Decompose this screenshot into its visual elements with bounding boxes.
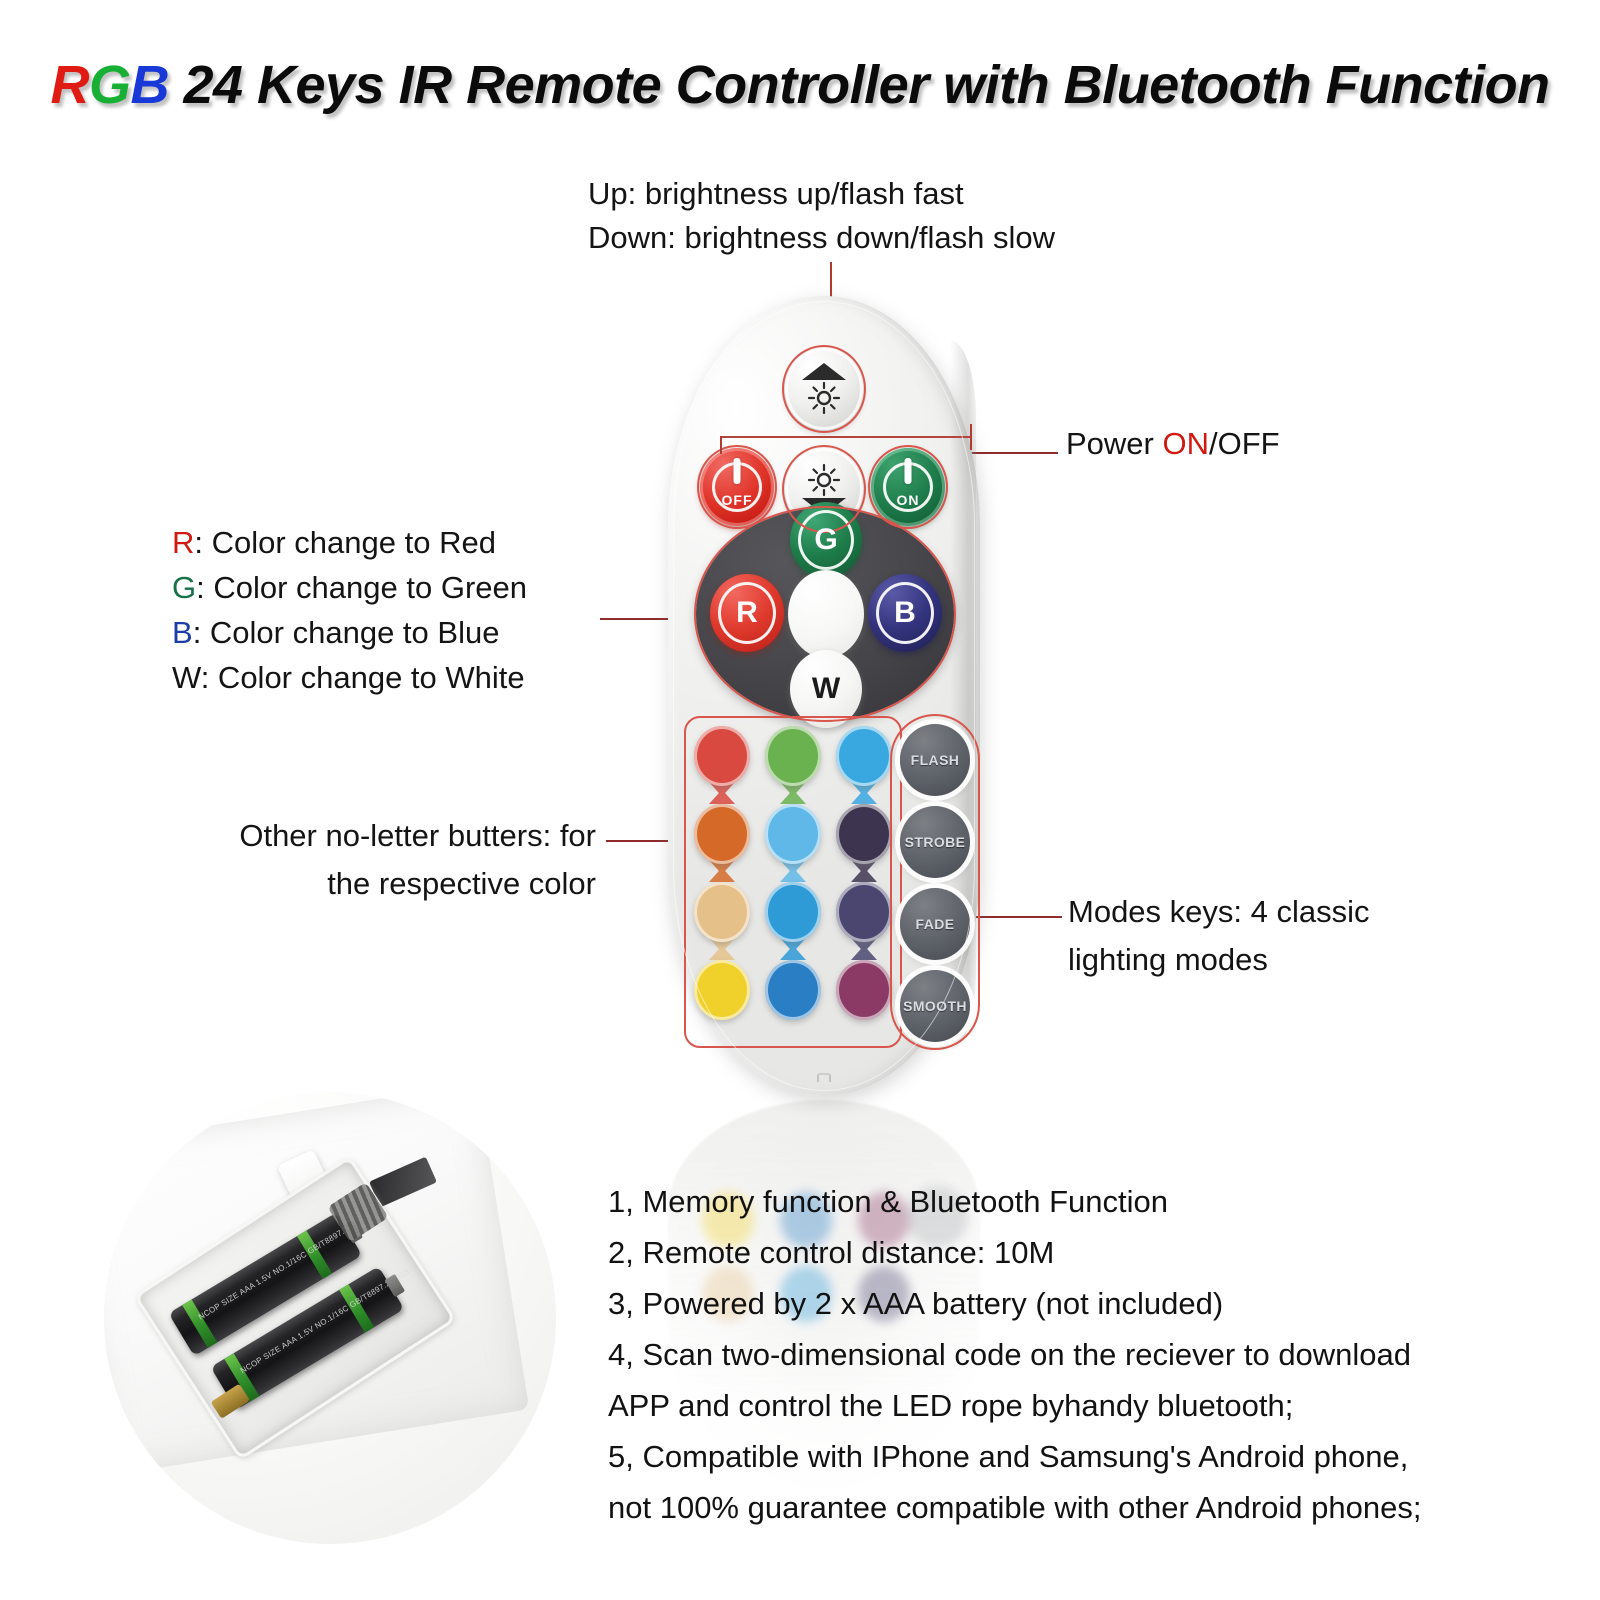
color-button-r1c2[interactable] <box>765 726 821 786</box>
color-key-letter-r: R <box>172 525 194 560</box>
color-button-r2c2[interactable] <box>765 804 821 864</box>
remote-control-body: OFF ON G R B W <box>668 296 980 1096</box>
title-letter-b: B <box>130 55 169 115</box>
mode-button-smooth[interactable]: SMOOTH <box>900 970 970 1042</box>
power-symbol-icon: ON <box>883 462 933 512</box>
color-key-text-w: : Color change to White <box>201 660 525 695</box>
annotation-modes-line1: Modes keys: 4 classic <box>1068 888 1370 936</box>
mode-button-fade[interactable]: FADE <box>900 888 970 960</box>
power-on-button[interactable]: ON <box>871 448 945 526</box>
annotation-no-letter-line2: the respective color <box>176 860 596 908</box>
color-button-r4c2[interactable] <box>765 960 821 1020</box>
spec-item-5: 5, Compatible with IPhone and Samsung's … <box>608 1431 1508 1482</box>
color-key-text-b: : Color change to Blue <box>193 615 500 650</box>
wheel-label-r: R <box>736 596 758 630</box>
spec-item-3: 3, Powered by 2 x AAA battery (not inclu… <box>608 1278 1508 1329</box>
color-button-r2c1[interactable] <box>694 804 750 864</box>
power-on-label: ON <box>897 492 920 508</box>
mode-label-fade: FADE <box>916 916 955 932</box>
color-button-r3c3[interactable] <box>836 882 892 942</box>
remote-seam-notch <box>817 1073 831 1082</box>
color-button-grid <box>694 726 892 1038</box>
color-key-text-g: : Color change to Green <box>196 570 527 605</box>
annotation-no-letter: Other no-letter butters: for the respect… <box>176 812 596 908</box>
mode-label-flash: FLASH <box>911 752 960 768</box>
annotation-modes: Modes keys: 4 classic lighting modes <box>1068 888 1370 984</box>
battery-compartment-photo: NCOP SIZE AAA 1.5V NO.1/16C GB/T8897.2-2… <box>104 1092 556 1544</box>
annotation-color-keys: R: Color change to Red G: Color change t… <box>172 520 527 700</box>
annotation-brightness: Up: brightness up/flash fast Down: brigh… <box>588 172 1055 260</box>
title-letter-g: G <box>89 55 131 115</box>
annotation-color-key-b: B: Color change to Blue <box>172 610 527 655</box>
color-button-r4c1[interactable] <box>694 960 750 1020</box>
annotation-color-key-w: W: Color change to White <box>172 655 527 700</box>
annotation-power: Power ON/OFF <box>1066 422 1280 466</box>
highlight-connector-right <box>970 424 972 450</box>
color-button-r1c3[interactable] <box>836 726 892 786</box>
color-button-r3c2[interactable] <box>765 882 821 942</box>
title-letter-r: R <box>50 55 89 115</box>
annotation-power-suffix: /OFF <box>1209 426 1280 461</box>
wheel-label-b: B <box>894 596 916 630</box>
power-symbol-icon: OFF <box>712 462 762 512</box>
wheel-button-b[interactable]: B <box>868 574 942 652</box>
sun-icon <box>804 381 844 415</box>
color-key-text-r: : Color change to Red <box>194 525 496 560</box>
spec-item-5-cont: not 100% guarantee compatible with other… <box>608 1482 1508 1533</box>
spec-item-2: 2, Remote control distance: 10M <box>608 1227 1508 1278</box>
annotation-no-letter-line1: Other no-letter butters: for <box>176 812 596 860</box>
wheel-center-pad[interactable] <box>788 570 864 658</box>
annotation-power-prefix: Power <box>1066 426 1162 461</box>
color-key-letter-g: G <box>172 570 196 605</box>
highlight-connector-bar <box>720 436 972 438</box>
annotation-color-key-r: R: Color change to Red <box>172 520 527 565</box>
mode-button-flash[interactable]: FLASH <box>900 724 970 796</box>
brightness-up-button[interactable] <box>785 348 863 430</box>
spec-list: 1, Memory function & Bluetooth Function … <box>608 1176 1508 1533</box>
color-button-r4c3[interactable] <box>836 960 892 1020</box>
wheel-label-w: W <box>812 672 840 706</box>
color-key-letter-b: B <box>172 615 193 650</box>
page-title: RGB 24 Keys IR Remote Controller with Bl… <box>0 54 1600 116</box>
mode-button-column: FLASH STROBE FADE SMOOTH <box>900 724 972 1040</box>
annotation-brightness-line2: Down: brightness down/flash slow <box>588 216 1055 260</box>
annotation-power-on: ON <box>1162 426 1209 461</box>
spec-item-4-cont: APP and control the LED rope byhandy blu… <box>608 1380 1508 1431</box>
annotation-brightness-line1: Up: brightness up/flash fast <box>588 172 1055 216</box>
power-off-button[interactable]: OFF <box>700 448 774 526</box>
spec-item-4: 4, Scan two-dimensional code on the reci… <box>608 1329 1508 1380</box>
annotation-color-key-g: G: Color change to Green <box>172 565 527 610</box>
wheel-button-g[interactable]: G <box>790 502 862 578</box>
wheel-label-g: G <box>814 523 837 557</box>
power-off-label: OFF <box>722 492 753 508</box>
mode-label-smooth: SMOOTH <box>903 998 967 1014</box>
color-button-r1c1[interactable] <box>694 726 750 786</box>
mode-label-strobe: STROBE <box>905 834 966 850</box>
mode-button-strobe[interactable]: STROBE <box>900 806 970 878</box>
highlight-connector-left <box>720 436 722 454</box>
spec-item-1: 1, Memory function & Bluetooth Function <box>608 1176 1508 1227</box>
sun-icon <box>804 463 844 497</box>
wheel-button-w[interactable]: W <box>790 650 862 728</box>
annotation-modes-line2: lighting modes <box>1068 936 1370 984</box>
title-rest: 24 Keys IR Remote Controller with Blueto… <box>169 55 1550 115</box>
color-button-r2c3[interactable] <box>836 804 892 864</box>
chevron-up-icon <box>802 363 846 380</box>
wheel-button-r[interactable]: R <box>710 574 784 652</box>
color-key-letter-w: W <box>172 660 201 695</box>
rgbw-wheel: G R B W <box>696 508 954 720</box>
color-button-r3c1[interactable] <box>694 882 750 942</box>
